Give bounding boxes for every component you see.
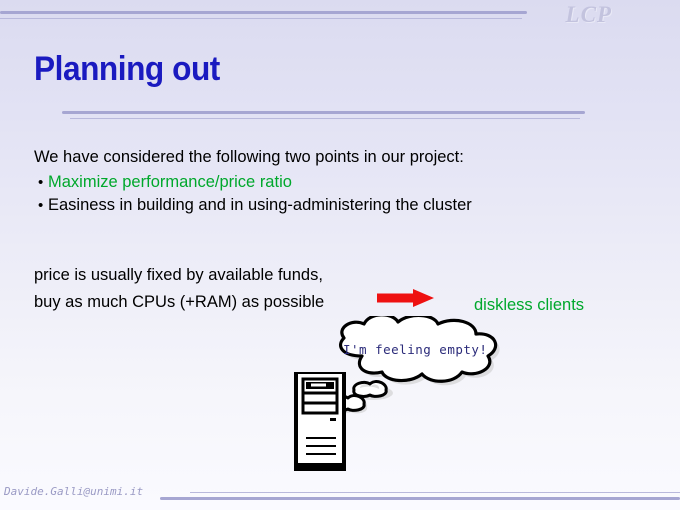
power-led-icon bbox=[330, 418, 336, 421]
bullet-icon: • bbox=[38, 198, 48, 213]
list-item: • Maximize performance/price ratio bbox=[34, 173, 634, 192]
thought-bubble-icon: I'm feeling empty! bbox=[326, 316, 531, 416]
red-right-arrow-icon bbox=[377, 288, 435, 308]
paragraph-line: buy as much CPUs (+RAM) as possible bbox=[34, 293, 324, 312]
callout-label: diskless clients bbox=[474, 296, 584, 315]
paragraph-block: price is usually fixed by available fund… bbox=[34, 266, 324, 320]
bullet-label: Easiness in building and in using-admini… bbox=[48, 196, 472, 215]
list-item: • Easiness in building and in using-admi… bbox=[34, 196, 634, 215]
footer-rule-thick bbox=[160, 497, 680, 500]
header-rule-thin bbox=[0, 18, 522, 19]
lcp-logo: LCP bbox=[566, 2, 612, 28]
footer-email: Davide.Galli@unimi.it bbox=[4, 485, 143, 498]
title-rule-thin bbox=[70, 118, 580, 119]
bullet-icon: • bbox=[38, 175, 48, 190]
intro-line: We have considered the following two poi… bbox=[34, 148, 634, 167]
page-title: Planning out bbox=[34, 50, 220, 89]
computer-tower-icon bbox=[294, 372, 348, 472]
presentation-slide: LCP Planning out We have considered the … bbox=[0, 0, 680, 510]
body-content: We have considered the following two poi… bbox=[34, 148, 634, 219]
thought-text: I'm feeling empty! bbox=[343, 342, 487, 357]
title-rule-thick bbox=[62, 111, 585, 114]
bullet-label: Maximize performance/price ratio bbox=[48, 173, 292, 192]
footer-rule-thin bbox=[190, 492, 680, 493]
paragraph-line: price is usually fixed by available fund… bbox=[34, 266, 324, 285]
header-rule-thick bbox=[0, 11, 527, 14]
